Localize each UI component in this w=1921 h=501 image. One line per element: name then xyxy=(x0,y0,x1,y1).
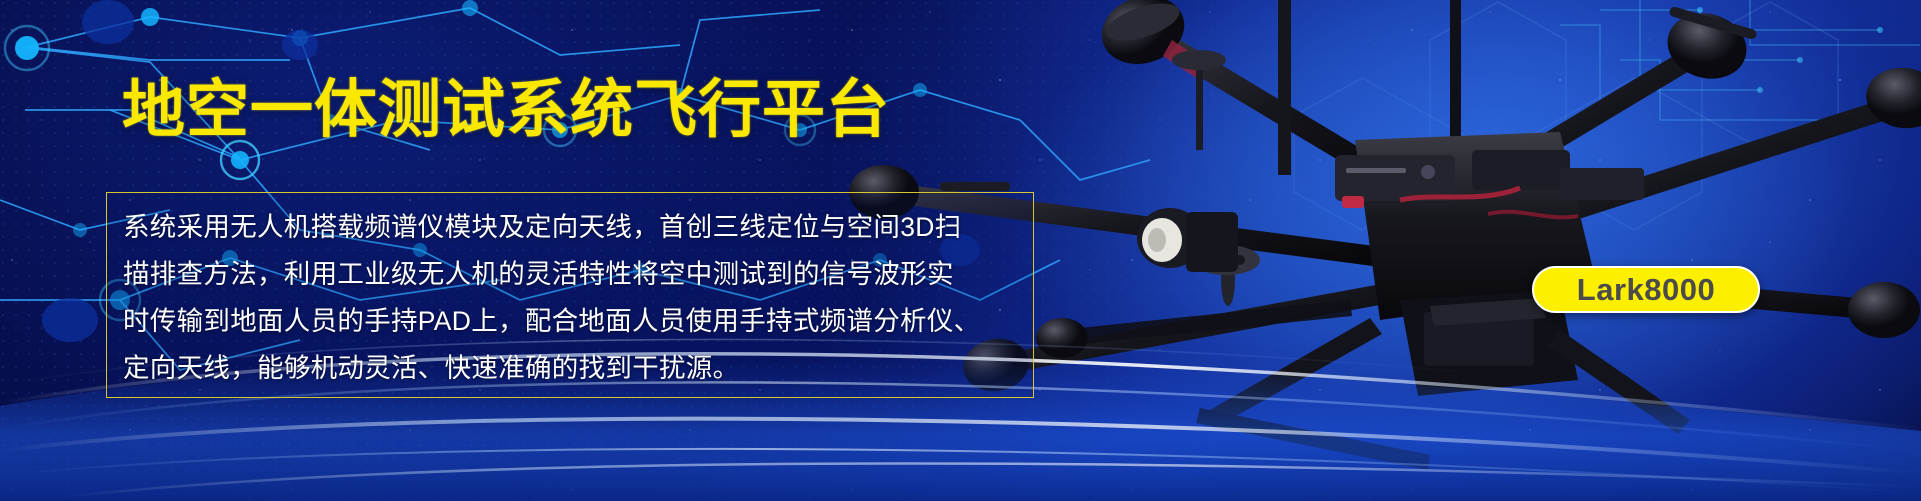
product-model-label: Lark8000 xyxy=(1577,274,1715,305)
description-line-3: 时传输到地面人员的手持PAD上，配合地面人员使用手持式频谱分析仪、 xyxy=(123,298,1017,345)
banner-title: 地空一体测试系统飞行平台 xyxy=(122,76,890,144)
product-banner: 地空一体测试系统飞行平台 系统采用无人机搭载频谱仪模块及定向天线，首创三线定位与… xyxy=(0,0,1921,501)
description-box: 系统采用无人机搭载频谱仪模块及定向天线，首创三线定位与空间3D扫 描排查方法，利… xyxy=(106,192,1034,398)
description-line-1: 系统采用无人机搭载频谱仪模块及定向天线，首创三线定位与空间3D扫 xyxy=(123,204,1017,251)
description-line-4: 定向天线，能够机动灵活、快速准确的找到干扰源。 xyxy=(123,345,1017,392)
product-model-badge: Lark8000 xyxy=(1532,266,1760,313)
description-line-2: 描排查方法，利用工业级无人机的灵活特性将空中测试到的信号波形实 xyxy=(123,251,1017,298)
